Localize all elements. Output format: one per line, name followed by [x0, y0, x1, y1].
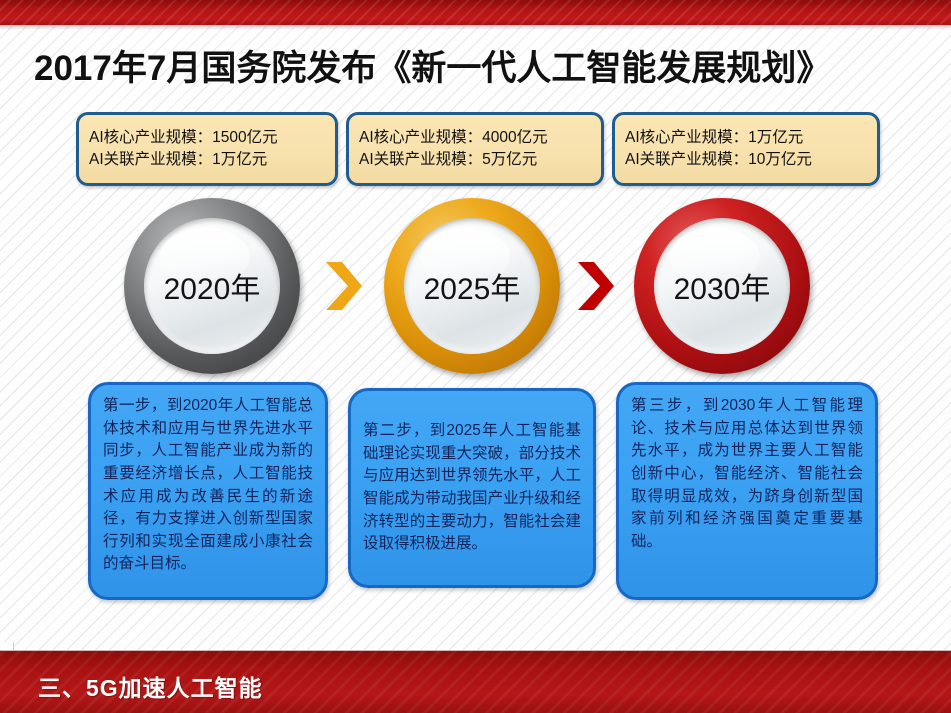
stat-core-scale-2030: AI核心产业规模：1万亿元 [625, 127, 867, 149]
milestone-circle-2025: 2025年 [384, 198, 560, 374]
footer-left-notch [0, 642, 14, 650]
stat-related-scale-2025: AI关联产业规模：5万亿元 [359, 149, 591, 171]
description-box-step-3: 第三步，到2030年人工智能理论、技术与应用总体达到世界领先水平，成为世界主要人… [616, 382, 878, 600]
stat-related-scale-2030: AI关联产业规模：10万亿元 [625, 149, 867, 171]
milestone-row: 2020年 2025年 2030年 [0, 198, 951, 374]
stat-core-scale-2025: AI核心产业规模：4000亿元 [359, 127, 591, 149]
stat-box-2030: AI核心产业规模：1万亿元 AI关联产业规模：10万亿元 [612, 112, 880, 186]
milestone-ring-inner-2030: 2030年 [654, 218, 790, 354]
milestone-ring-inner-2020: 2020年 [144, 218, 280, 354]
slide-canvas: 2017年7月国务院发布《新一代人工智能发展规划》 AI核心产业规模：1500亿… [0, 0, 951, 713]
stat-box-2020: AI核心产业规模：1500亿元 AI关联产业规模：1万亿元 [76, 112, 338, 186]
description-text-step-2: 第二步，到2025年人工智能基础理论实现重大突破，部分技术与应用达到世界领先水平… [363, 420, 581, 556]
stat-related-scale-2020: AI关联产业规模：1万亿元 [89, 149, 325, 171]
top-accent-bar-shadow [0, 26, 951, 30]
chevron-right-icon-red [574, 260, 616, 312]
description-row: 第一步，到2020年人工智能总体技术和应用与世界先进水平同步，人工智能产业成为新… [0, 382, 951, 600]
stat-core-scale-2020: AI核心产业规模：1500亿元 [89, 127, 325, 149]
description-text-step-3: 第三步，到2030年人工智能理论、技术与应用总体达到世界领先水平，成为世界主要人… [631, 395, 863, 553]
description-box-step-1: 第一步，到2020年人工智能总体技术和应用与世界先进水平同步，人工智能产业成为新… [88, 382, 328, 600]
description-box-step-2: 第二步，到2025年人工智能基础理论实现重大突破，部分技术与应用达到世界领先水平… [348, 388, 596, 588]
milestone-label-2020: 2020年 [164, 264, 261, 308]
top-accent-bar [0, 0, 951, 26]
milestone-ring-inner-2025: 2025年 [404, 218, 540, 354]
page-title: 2017年7月国务院发布《新一代人工智能发展规划》 [34, 40, 831, 91]
description-text-step-1: 第一步，到2020年人工智能总体技术和应用与世界先进水平同步，人工智能产业成为新… [103, 395, 313, 576]
stat-box-row: AI核心产业规模：1500亿元 AI关联产业规模：1万亿元 AI核心产业规模：4… [0, 112, 951, 188]
milestone-label-2025: 2025年 [424, 264, 521, 308]
footer-bar: 三、5G加速人工智能 [0, 650, 951, 713]
footer-section-title: 三、5G加速人工智能 [38, 669, 263, 703]
stat-box-2025: AI核心产业规模：4000亿元 AI关联产业规模：5万亿元 [346, 112, 604, 186]
milestone-label-2030: 2030年 [674, 264, 771, 308]
milestone-circle-2020: 2020年 [124, 198, 300, 374]
chevron-right-icon-orange [322, 260, 364, 312]
milestone-circle-2030: 2030年 [634, 198, 810, 374]
